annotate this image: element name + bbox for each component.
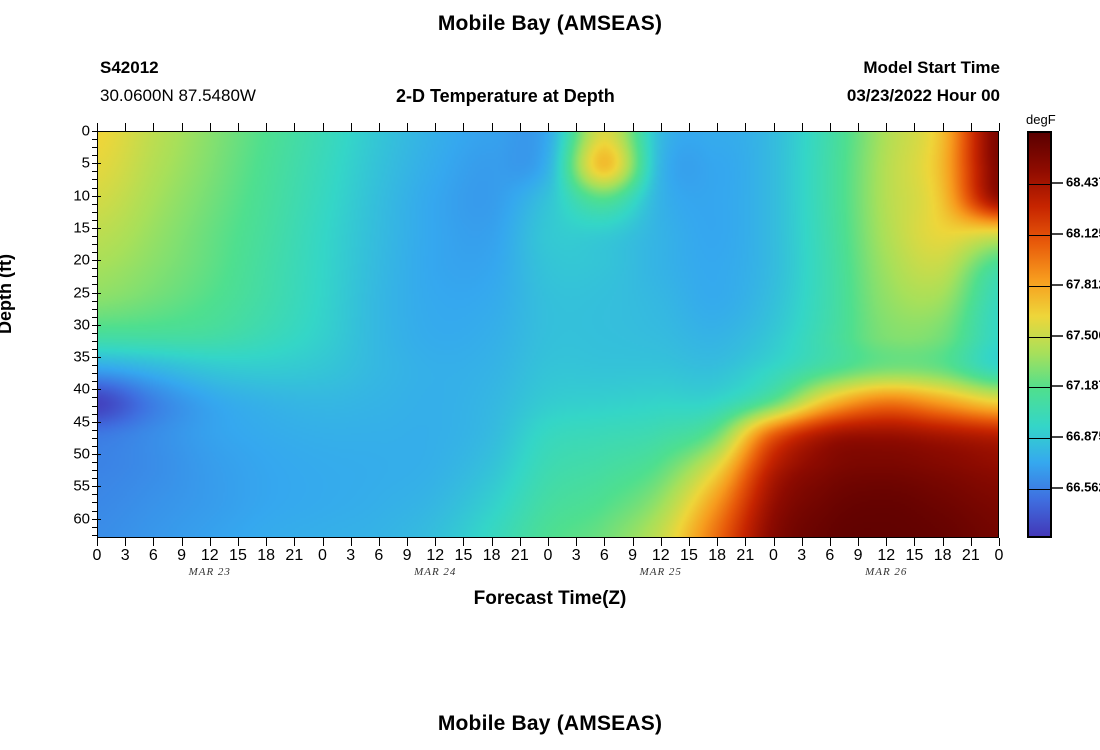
x-tick-label: 18	[934, 547, 952, 565]
x-tick-mark	[323, 538, 324, 546]
x-tick-label: 0	[544, 547, 553, 565]
y-tick-minor	[92, 139, 97, 140]
x-tick-mark-top	[379, 123, 380, 131]
x-tick-label: 12	[652, 547, 670, 565]
colorbar-tick-mark	[1052, 436, 1063, 438]
y-tick-minor	[92, 502, 97, 503]
y-tick-minor	[92, 309, 97, 310]
x-tick-mark-top	[689, 123, 690, 131]
colorbar-tick-label: 68.1250	[1066, 225, 1100, 240]
y-tick-minor	[92, 527, 97, 528]
x-tick-label: 15	[229, 547, 247, 565]
colorbar-tick-label: 67.1875	[1066, 378, 1100, 393]
colorbar-tick-label: 66.5625	[1066, 480, 1100, 495]
x-tick-mark-top	[153, 123, 154, 131]
x-tick-label: 3	[572, 547, 581, 565]
x-tick-label: 12	[877, 547, 895, 565]
x-tick-mark-top	[210, 123, 211, 131]
x-tick-mark	[294, 538, 295, 546]
x-tick-label: 9	[854, 547, 863, 565]
x-tick-label: 9	[177, 547, 186, 565]
x-tick-mark	[717, 538, 718, 546]
y-tick-minor	[92, 365, 97, 366]
x-tick-mark	[463, 538, 464, 546]
x-tick-label: 21	[511, 547, 529, 565]
station-coordinates: 30.0600N 87.5480W	[100, 86, 256, 106]
y-tick-minor	[92, 438, 97, 439]
x-tick-mark	[774, 538, 775, 546]
x-tick-label: 15	[455, 547, 473, 565]
x-tick-mark-top	[830, 123, 831, 131]
x-tick-mark-top	[266, 123, 267, 131]
x-tick-label: 12	[201, 547, 219, 565]
x-tick-mark-top	[971, 123, 972, 131]
y-tick-minor	[92, 179, 97, 180]
colorbar-tick-mark	[1052, 487, 1063, 489]
y-tick-minor	[92, 244, 97, 245]
y-tick-minor	[92, 204, 97, 205]
y-tick-minor	[92, 406, 97, 407]
x-tick-mark-top	[407, 123, 408, 131]
y-tick-mark	[92, 422, 101, 423]
x-tick-mark-top	[97, 123, 98, 131]
y-tick-mark	[92, 357, 101, 358]
x-tick-mark-top	[943, 123, 944, 131]
x-tick-mark	[802, 538, 803, 546]
x-tick-mark-top	[463, 123, 464, 131]
x-tick-mark-top	[182, 123, 183, 131]
x-tick-label: 21	[962, 547, 980, 565]
y-tick-minor	[92, 236, 97, 237]
y-tick-mark	[92, 196, 101, 197]
x-axis-date-label: MAR 25	[640, 566, 682, 578]
bottom-title: Mobile Bay (AMSEAS)	[0, 712, 1100, 736]
y-tick-minor	[92, 317, 97, 318]
y-tick-minor	[92, 535, 97, 536]
x-tick-mark-top	[633, 123, 634, 131]
x-tick-mark	[153, 538, 154, 546]
temperature-heatmap	[98, 132, 998, 537]
x-tick-label: 18	[257, 547, 275, 565]
y-tick-label: 10	[0, 187, 90, 204]
y-tick-minor	[92, 478, 97, 479]
y-tick-label: 20	[0, 252, 90, 269]
x-tick-mark	[858, 538, 859, 546]
x-tick-label: 6	[374, 547, 383, 565]
colorbar-divider	[1029, 286, 1050, 287]
x-tick-mark	[886, 538, 887, 546]
x-tick-label: 3	[797, 547, 806, 565]
colorbar-tick-mark	[1052, 385, 1063, 387]
x-tick-label: 15	[680, 547, 698, 565]
x-tick-mark	[689, 538, 690, 546]
x-tick-mark	[435, 538, 436, 546]
station-id: S42012	[100, 58, 159, 78]
colorbar-divider	[1029, 184, 1050, 185]
y-tick-minor	[92, 511, 97, 512]
y-tick-label: 60	[0, 510, 90, 527]
y-tick-mark	[92, 131, 101, 132]
model-start-time-value: 03/23/2022 Hour 00	[847, 86, 1000, 106]
x-tick-label: 3	[346, 547, 355, 565]
y-tick-mark	[92, 519, 101, 520]
x-tick-label: 0	[318, 547, 327, 565]
y-tick-minor	[92, 333, 97, 334]
x-tick-label: 3	[121, 547, 130, 565]
colorbar-divider	[1029, 438, 1050, 439]
x-tick-label: 21	[736, 547, 754, 565]
model-start-time-label: Model Start Time	[863, 58, 1000, 78]
x-axis-date-label: MAR 23	[189, 566, 231, 578]
colorbar	[1027, 131, 1052, 538]
x-tick-mark	[520, 538, 521, 546]
y-tick-minor	[92, 188, 97, 189]
y-tick-minor	[92, 446, 97, 447]
y-tick-minor	[92, 381, 97, 382]
y-tick-mark	[92, 454, 101, 455]
heatmap-plot-area	[97, 131, 999, 538]
y-tick-label: 50	[0, 446, 90, 463]
x-tick-label: 6	[825, 547, 834, 565]
x-tick-mark-top	[914, 123, 915, 131]
colorbar-tick-label: 67.5000	[1066, 327, 1100, 342]
x-tick-label: 0	[769, 547, 778, 565]
x-tick-mark-top	[294, 123, 295, 131]
y-tick-label: 0	[0, 123, 90, 140]
colorbar-tick-label: 66.8750	[1066, 429, 1100, 444]
x-tick-label: 9	[628, 547, 637, 565]
y-tick-mark	[92, 486, 101, 487]
y-tick-minor	[92, 430, 97, 431]
y-tick-minor	[92, 147, 97, 148]
x-tick-mark-top	[576, 123, 577, 131]
y-tick-mark	[92, 389, 101, 390]
chart-subtitle: 2-D Temperature at Depth	[396, 86, 615, 107]
x-tick-mark	[604, 538, 605, 546]
y-tick-label: 30	[0, 316, 90, 333]
x-axis-date-label: MAR 24	[414, 566, 456, 578]
colorbar-divider	[1029, 489, 1050, 490]
colorbar-unit-label: degF	[1026, 112, 1056, 127]
colorbar-divider	[1029, 387, 1050, 388]
x-tick-mark	[492, 538, 493, 546]
y-tick-label: 35	[0, 349, 90, 366]
colorbar-tick-mark	[1052, 284, 1063, 286]
colorbar-tick-mark	[1052, 182, 1063, 184]
x-tick-mark-top	[351, 123, 352, 131]
x-tick-mark	[576, 538, 577, 546]
y-tick-label: 5	[0, 155, 90, 172]
x-tick-mark	[999, 538, 1000, 546]
x-tick-mark	[661, 538, 662, 546]
y-tick-mark	[92, 260, 101, 261]
x-tick-label: 15	[906, 547, 924, 565]
y-tick-minor	[92, 301, 97, 302]
x-tick-mark-top	[492, 123, 493, 131]
y-tick-minor	[92, 373, 97, 374]
y-tick-mark	[92, 293, 101, 294]
x-tick-mark-top	[435, 123, 436, 131]
x-tick-label: 12	[426, 547, 444, 565]
x-axis-title: Forecast Time(Z)	[0, 588, 1100, 610]
y-tick-mark	[92, 163, 101, 164]
x-tick-mark	[125, 538, 126, 546]
y-tick-minor	[92, 220, 97, 221]
x-axis-date-label: MAR 26	[865, 566, 907, 578]
x-tick-mark	[266, 538, 267, 546]
y-tick-minor	[92, 252, 97, 253]
x-tick-mark	[745, 538, 746, 546]
y-tick-minor	[92, 276, 97, 277]
page-title: Mobile Bay (AMSEAS)	[0, 12, 1100, 36]
x-tick-mark-top	[548, 123, 549, 131]
x-tick-label: 6	[600, 547, 609, 565]
x-tick-mark	[351, 538, 352, 546]
x-tick-label: 21	[285, 547, 303, 565]
y-tick-minor	[92, 155, 97, 156]
y-tick-minor	[92, 341, 97, 342]
y-tick-minor	[92, 494, 97, 495]
x-tick-mark	[633, 538, 634, 546]
x-tick-label: 0	[995, 547, 1004, 565]
x-tick-mark	[379, 538, 380, 546]
x-tick-mark	[407, 538, 408, 546]
y-tick-minor	[92, 397, 97, 398]
x-tick-mark	[97, 538, 98, 546]
x-tick-mark	[210, 538, 211, 546]
x-tick-mark-top	[323, 123, 324, 131]
x-tick-mark-top	[774, 123, 775, 131]
x-tick-mark	[914, 538, 915, 546]
x-tick-mark-top	[661, 123, 662, 131]
y-tick-label: 45	[0, 413, 90, 430]
y-tick-minor	[92, 349, 97, 350]
x-tick-mark-top	[745, 123, 746, 131]
x-tick-mark	[182, 538, 183, 546]
x-tick-mark	[238, 538, 239, 546]
x-tick-mark-top	[717, 123, 718, 131]
y-tick-label: 40	[0, 381, 90, 398]
x-tick-mark	[971, 538, 972, 546]
x-tick-label: 18	[708, 547, 726, 565]
colorbar-divider	[1029, 337, 1050, 338]
x-tick-mark-top	[999, 123, 1000, 131]
colorbar-tick-mark	[1052, 233, 1063, 235]
x-tick-mark-top	[886, 123, 887, 131]
y-tick-minor	[92, 470, 97, 471]
colorbar-divider	[1029, 235, 1050, 236]
y-tick-mark	[92, 228, 101, 229]
y-tick-minor	[92, 171, 97, 172]
x-tick-label: 0	[93, 547, 102, 565]
y-tick-label: 15	[0, 219, 90, 236]
colorbar-tick-label: 68.4375	[1066, 174, 1100, 189]
x-tick-mark-top	[802, 123, 803, 131]
x-tick-mark-top	[238, 123, 239, 131]
y-tick-minor	[92, 212, 97, 213]
y-tick-label: 25	[0, 284, 90, 301]
y-tick-minor	[92, 414, 97, 415]
colorbar-tick-label: 67.8125	[1066, 276, 1100, 291]
y-tick-label: 55	[0, 478, 90, 495]
x-tick-mark-top	[604, 123, 605, 131]
x-tick-mark-top	[125, 123, 126, 131]
x-tick-mark-top	[858, 123, 859, 131]
x-tick-mark	[943, 538, 944, 546]
y-tick-minor	[92, 462, 97, 463]
colorbar-tick-mark	[1052, 335, 1063, 337]
x-tick-mark-top	[520, 123, 521, 131]
colorbar-gradient	[1029, 133, 1050, 536]
x-tick-mark	[548, 538, 549, 546]
y-tick-mark	[92, 325, 101, 326]
y-tick-minor	[92, 284, 97, 285]
x-tick-label: 18	[483, 547, 501, 565]
x-tick-label: 9	[403, 547, 412, 565]
y-tick-minor	[92, 268, 97, 269]
x-tick-mark	[830, 538, 831, 546]
x-tick-label: 6	[149, 547, 158, 565]
